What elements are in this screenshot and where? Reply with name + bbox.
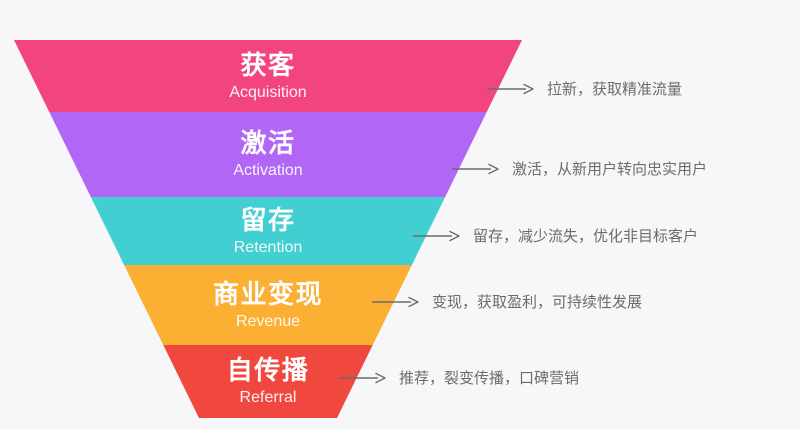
funnel-note-retention: 留存，减少流失，优化非目标客户 [473,229,698,244]
funnel-diagram: 获客 Acquisition 激活 Activation 留存 Retentio… [0,0,800,429]
funnel-band-retention [91,197,445,265]
funnel-note-activation: 激活，从新用户转向忠实用户 [512,162,707,177]
funnel-band-activation [49,112,487,197]
funnel-band-acquisition [14,40,522,112]
funnel-note-referral: 推荐，裂变传播，口碑营销 [399,371,579,386]
funnel-band-revenue [124,265,412,345]
funnel-note-revenue: 变现，获取盈利，可持续性发展 [432,295,642,310]
funnel-note-acquisition: 拉新，获取精准流量 [547,82,682,97]
funnel-band-referral [163,345,372,418]
funnel-shape-svg [0,0,800,429]
funnel-bands [14,40,522,418]
